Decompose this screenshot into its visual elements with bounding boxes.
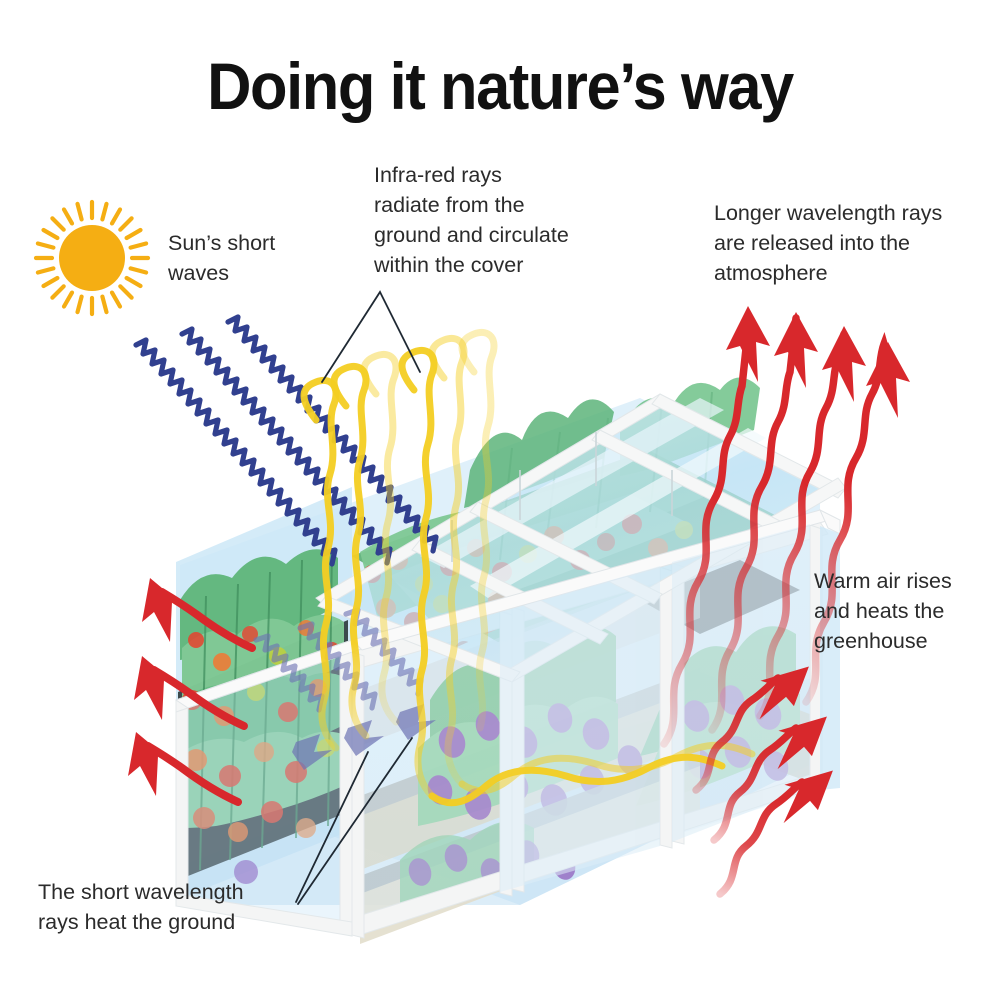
label-warm-air-rises: Warm air rises and heats the greenhouse bbox=[814, 566, 952, 656]
label-longer-wavelength: Longer wavelength rays are released into… bbox=[714, 198, 942, 288]
label-infrared-rays: Infra-red rays radiate from the ground a… bbox=[374, 160, 569, 280]
infographic-canvas: Doing it nature’s way bbox=[0, 0, 1000, 1000]
label-sun-short-waves: Sun’s short waves bbox=[168, 228, 275, 288]
sun-icon bbox=[36, 202, 148, 314]
diagram-scene bbox=[0, 0, 1000, 1000]
label-short-wavelength-ground: The short wavelength rays heat the groun… bbox=[38, 877, 244, 937]
